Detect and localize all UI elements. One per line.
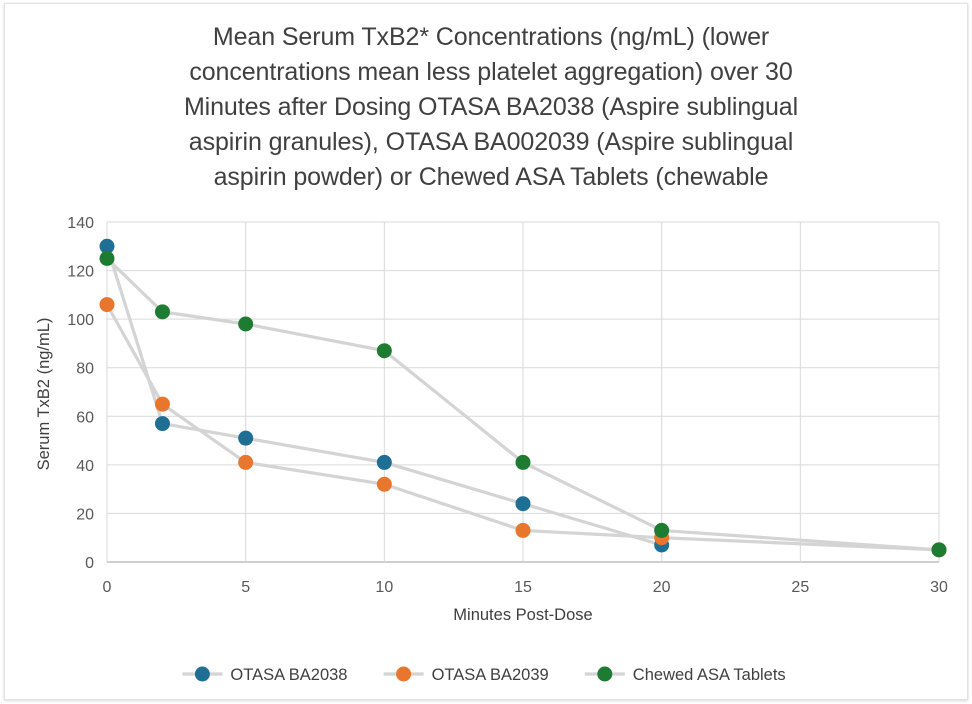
data-point-s2-5[interactable] (516, 523, 531, 538)
data-point-s3-7[interactable] (932, 542, 947, 557)
x-axis-title: Minutes Post-Dose (453, 606, 592, 624)
y-tick-label: 80 (76, 361, 94, 378)
x-tick-label: 20 (653, 579, 671, 596)
data-point-s1-2[interactable] (155, 416, 170, 431)
data-point-s2-1[interactable] (100, 297, 115, 312)
x-tick-label: 25 (791, 579, 809, 596)
legend-item-1[interactable]: OTASA BA2038 (182, 666, 347, 684)
y-tick-label: 60 (76, 409, 94, 426)
data-point-s2-4[interactable] (377, 477, 392, 492)
data-point-s3-5[interactable] (516, 455, 531, 470)
data-point-s2-2[interactable] (155, 397, 170, 412)
legend-label: Chewed ASA Tablets (633, 666, 786, 684)
y-tick-label: 20 (76, 506, 94, 523)
legend-swatch-marker (597, 667, 612, 682)
data-point-s2-3[interactable] (238, 455, 253, 470)
x-axis-tick-labels: 051015202530 (103, 579, 948, 596)
data-point-s3-3[interactable] (238, 317, 253, 332)
plot-area-container: 020406080100120140 051015202530 OTASA BA… (5, 4, 969, 701)
y-axis-title: Serum TxB2 (ng/mL) (35, 318, 53, 471)
x-tick-label: 30 (930, 579, 948, 596)
chart-card: Mean Serum TxB2* Concentrations (ng/mL) … (4, 3, 968, 700)
x-tick-label: 15 (514, 579, 532, 596)
x-tick-label: 0 (103, 579, 112, 596)
y-tick-label: 100 (67, 312, 94, 329)
data-point-s3-4[interactable] (377, 343, 392, 358)
data-point-s3-6[interactable] (654, 523, 669, 538)
data-point-s3-2[interactable] (155, 304, 170, 319)
data-point-s3-1[interactable] (100, 251, 115, 266)
data-point-s1-3[interactable] (238, 431, 253, 446)
legend-label: OTASA BA2038 (230, 666, 347, 684)
y-tick-label: 0 (85, 555, 94, 572)
legend-item-3[interactable]: Chewed ASA Tablets (585, 666, 786, 684)
x-tick-label: 10 (375, 579, 393, 596)
legend-label: OTASA BA2039 (432, 666, 549, 684)
legend-swatch-marker (396, 667, 411, 682)
y-tick-label: 40 (76, 458, 94, 475)
y-tick-label: 120 (67, 264, 94, 281)
data-point-s1-5[interactable] (516, 496, 531, 511)
y-tick-label: 140 (67, 215, 94, 232)
y-axis-tick-labels: 020406080100120140 (67, 215, 94, 572)
legend-swatch-marker (195, 667, 210, 682)
x-tick-label: 5 (241, 579, 250, 596)
legend-item-2[interactable]: OTASA BA2039 (384, 666, 549, 684)
chart-legend: OTASA BA2038OTASA BA2039Chewed ASA Table… (182, 666, 785, 684)
chart-canvas: 020406080100120140 051015202530 OTASA BA… (5, 4, 969, 701)
data-point-s1-4[interactable] (377, 455, 392, 470)
